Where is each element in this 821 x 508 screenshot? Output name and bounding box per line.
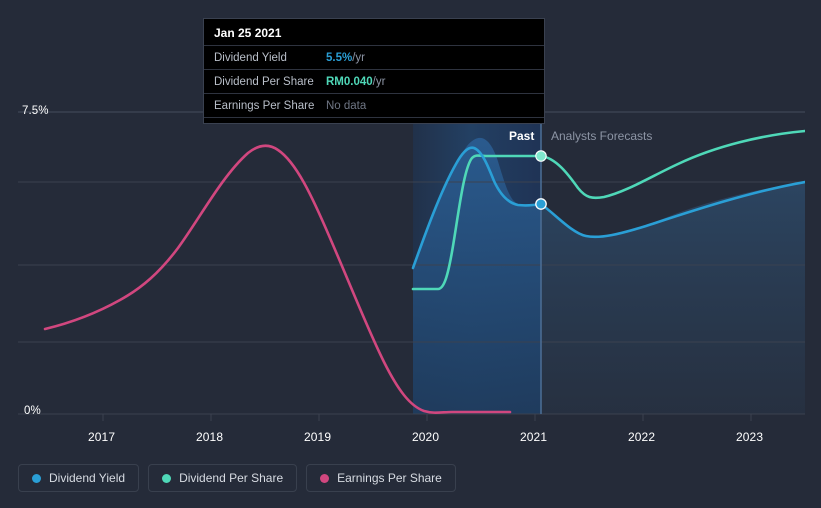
dividend-chart: 7.5% 0% 2017 2018 2019 2020 2021 2022 20… <box>0 0 821 508</box>
tooltip-row-dividend-per-share: Dividend Per Share RM0.040/yr <box>204 69 544 93</box>
past-label: Past <box>509 129 534 143</box>
tooltip-date: Jan 25 2021 <box>204 19 544 45</box>
dividend-yield-marker <box>536 199 546 209</box>
legend-label-dividend-per-share: Dividend Per Share <box>179 471 283 485</box>
tooltip-unit-dividend-yield: /yr <box>352 52 365 64</box>
x-axis-label-2022: 2022 <box>628 430 655 444</box>
tooltip-key-earnings-per-share: Earnings Per Share <box>214 100 326 112</box>
dividend-per-share-marker <box>536 151 546 161</box>
x-axis-label-2021: 2021 <box>520 430 547 444</box>
chart-tooltip: Jan 25 2021 Dividend Yield 5.5%/yr Divid… <box>203 18 545 124</box>
legend-label-earnings-per-share: Earnings Per Share <box>337 471 442 485</box>
legend-item-dividend-per-share[interactable]: Dividend Per Share <box>148 464 297 492</box>
tooltip-value-earnings-per-share: No data <box>326 100 366 112</box>
tooltip-key-dividend-per-share: Dividend Per Share <box>214 76 326 88</box>
x-axis-label-2017: 2017 <box>88 430 115 444</box>
x-axis-label-2019: 2019 <box>304 430 331 444</box>
tooltip-value-dividend-per-share: RM0.040/yr <box>326 76 385 88</box>
legend-dot-icon-earnings-per-share <box>320 474 329 483</box>
tooltip-key-dividend-yield: Dividend Yield <box>214 52 326 64</box>
tooltip-value-dividend-yield: 5.5%/yr <box>326 52 365 64</box>
legend-label-dividend-yield: Dividend Yield <box>49 471 125 485</box>
x-axis-label-2023: 2023 <box>736 430 763 444</box>
tooltip-row-earnings-per-share: Earnings Per Share No data <box>204 93 544 117</box>
legend-dot-icon-dividend-yield <box>32 474 41 483</box>
tooltip-value-dividend-yield-number: 5.5% <box>326 52 352 64</box>
analysts-forecasts-label: Analysts Forecasts <box>551 129 652 143</box>
legend-dot-icon-dividend-per-share <box>162 474 171 483</box>
tooltip-footer-divider <box>204 117 544 123</box>
chart-legend: Dividend Yield Dividend Per Share Earnin… <box>18 464 456 492</box>
legend-item-earnings-per-share[interactable]: Earnings Per Share <box>306 464 456 492</box>
y-axis-label-bottom: 0% <box>24 405 41 417</box>
y-axis-label-top: 7.5% <box>22 105 49 117</box>
x-tick-marks <box>103 414 751 421</box>
legend-item-dividend-yield[interactable]: Dividend Yield <box>18 464 139 492</box>
tooltip-value-dividend-per-share-number: RM0.040 <box>326 76 373 88</box>
x-axis-label-2018: 2018 <box>196 430 223 444</box>
x-axis-label-2020: 2020 <box>412 430 439 444</box>
tooltip-row-dividend-yield: Dividend Yield 5.5%/yr <box>204 45 544 69</box>
tooltip-unit-dividend-per-share: /yr <box>373 76 386 88</box>
